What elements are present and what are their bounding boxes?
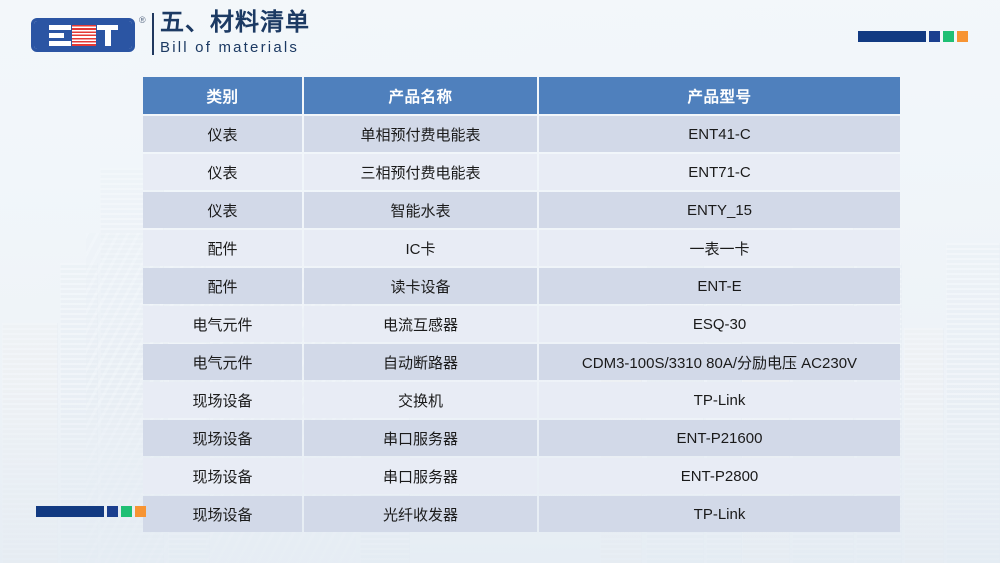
cell-product-name: 交换机 <box>304 382 537 418</box>
table-row: 仪表智能水表ENTY_15 <box>143 192 900 228</box>
cell-product-name: 自动断路器 <box>304 344 537 380</box>
cell-product-model: ENT-E <box>539 268 900 304</box>
page-title: 五、材料清单 <box>160 8 310 38</box>
table-header: 类别 产品名称 产品型号 <box>143 77 900 114</box>
table-row: 配件IC卡一表一卡 <box>143 230 900 266</box>
table-header-row: 类别 产品名称 产品型号 <box>143 77 900 114</box>
cell-product-model: ENT-P2800 <box>539 458 900 494</box>
logo-inner <box>34 21 132 49</box>
decoration-top-right <box>858 31 968 42</box>
cell-category: 电气元件 <box>143 306 302 342</box>
decoration-square-orange <box>135 506 146 517</box>
decoration-square-blue <box>107 506 118 517</box>
cell-product-model: ESQ-30 <box>539 306 900 342</box>
column-header-category: 类别 <box>143 77 302 114</box>
cell-category: 现场设备 <box>143 458 302 494</box>
table-row: 电气元件自动断路器CDM3-100S/3310 80A/分励电压 AC230V <box>143 344 900 380</box>
cell-product-model: CDM3-100S/3310 80A/分励电压 AC230V <box>539 344 900 380</box>
cell-category: 仪表 <box>143 192 302 228</box>
page-subtitle: Bill of materials <box>160 38 310 58</box>
cell-product-model: ENT71-C <box>539 154 900 190</box>
title-divider <box>152 13 154 55</box>
cell-product-name: 智能水表 <box>304 192 537 228</box>
cell-product-name: 串口服务器 <box>304 458 537 494</box>
cell-category: 仪表 <box>143 154 302 190</box>
column-header-product-model: 产品型号 <box>539 77 900 114</box>
table-row: 现场设备交换机TP-Link <box>143 382 900 418</box>
cell-product-model: ENTY_15 <box>539 192 900 228</box>
ent-logo <box>31 18 135 52</box>
cell-product-name: IC卡 <box>304 230 537 266</box>
slide: ® 五、材料清单 Bill of materials 类别 产品名称 产品型号 <box>0 0 1000 563</box>
decoration-bottom-left <box>36 506 146 517</box>
cell-product-name: 读卡设备 <box>304 268 537 304</box>
logo-letter-t-icon <box>97 25 118 46</box>
cell-category: 现场设备 <box>143 382 302 418</box>
column-header-product-name: 产品名称 <box>304 77 537 114</box>
table-row: 现场设备光纤收发器TP-Link <box>143 496 900 532</box>
cell-product-name: 电流互感器 <box>304 306 537 342</box>
table-row: 配件读卡设备ENT-E <box>143 268 900 304</box>
cell-product-name: 单相预付费电能表 <box>304 116 537 152</box>
cell-product-model: TP-Link <box>539 496 900 532</box>
cell-product-model: 一表一卡 <box>539 230 900 266</box>
cell-category: 仪表 <box>143 116 302 152</box>
table-body: 仪表单相预付费电能表ENT41-C仪表三相预付费电能表ENT71-C仪表智能水表… <box>143 116 900 532</box>
cell-product-name: 三相预付费电能表 <box>304 154 537 190</box>
decoration-bar <box>36 506 104 517</box>
decoration-bar <box>858 31 926 42</box>
logo-letter-n-icon <box>72 25 96 46</box>
title-block: 五、材料清单 Bill of materials <box>160 8 310 58</box>
decoration-square-green <box>121 506 132 517</box>
registered-trademark-icon: ® <box>139 15 146 25</box>
cell-category: 现场设备 <box>143 496 302 532</box>
cell-category: 电气元件 <box>143 344 302 380</box>
decoration-square-green <box>943 31 954 42</box>
logo-letters <box>34 21 132 49</box>
decoration-square-orange <box>957 31 968 42</box>
table-row: 电气元件电流互感器ESQ-30 <box>143 306 900 342</box>
cell-product-model: ENT-P21600 <box>539 420 900 456</box>
cell-product-model: ENT41-C <box>539 116 900 152</box>
cell-category: 配件 <box>143 230 302 266</box>
cell-product-model: TP-Link <box>539 382 900 418</box>
table-row: 现场设备串口服务器ENT-P21600 <box>143 420 900 456</box>
bill-of-materials-table: 类别 产品名称 产品型号 仪表单相预付费电能表ENT41-C仪表三相预付费电能表… <box>141 75 902 534</box>
table-row: 仪表单相预付费电能表ENT41-C <box>143 116 900 152</box>
cell-category: 配件 <box>143 268 302 304</box>
decoration-square-blue <box>929 31 940 42</box>
table-row: 仪表三相预付费电能表ENT71-C <box>143 154 900 190</box>
cell-product-name: 光纤收发器 <box>304 496 537 532</box>
slide-header: ® 五、材料清单 Bill of materials <box>0 0 1000 68</box>
cell-product-name: 串口服务器 <box>304 420 537 456</box>
logo-letter-e-icon <box>49 25 71 46</box>
cell-category: 现场设备 <box>143 420 302 456</box>
table-row: 现场设备串口服务器ENT-P2800 <box>143 458 900 494</box>
